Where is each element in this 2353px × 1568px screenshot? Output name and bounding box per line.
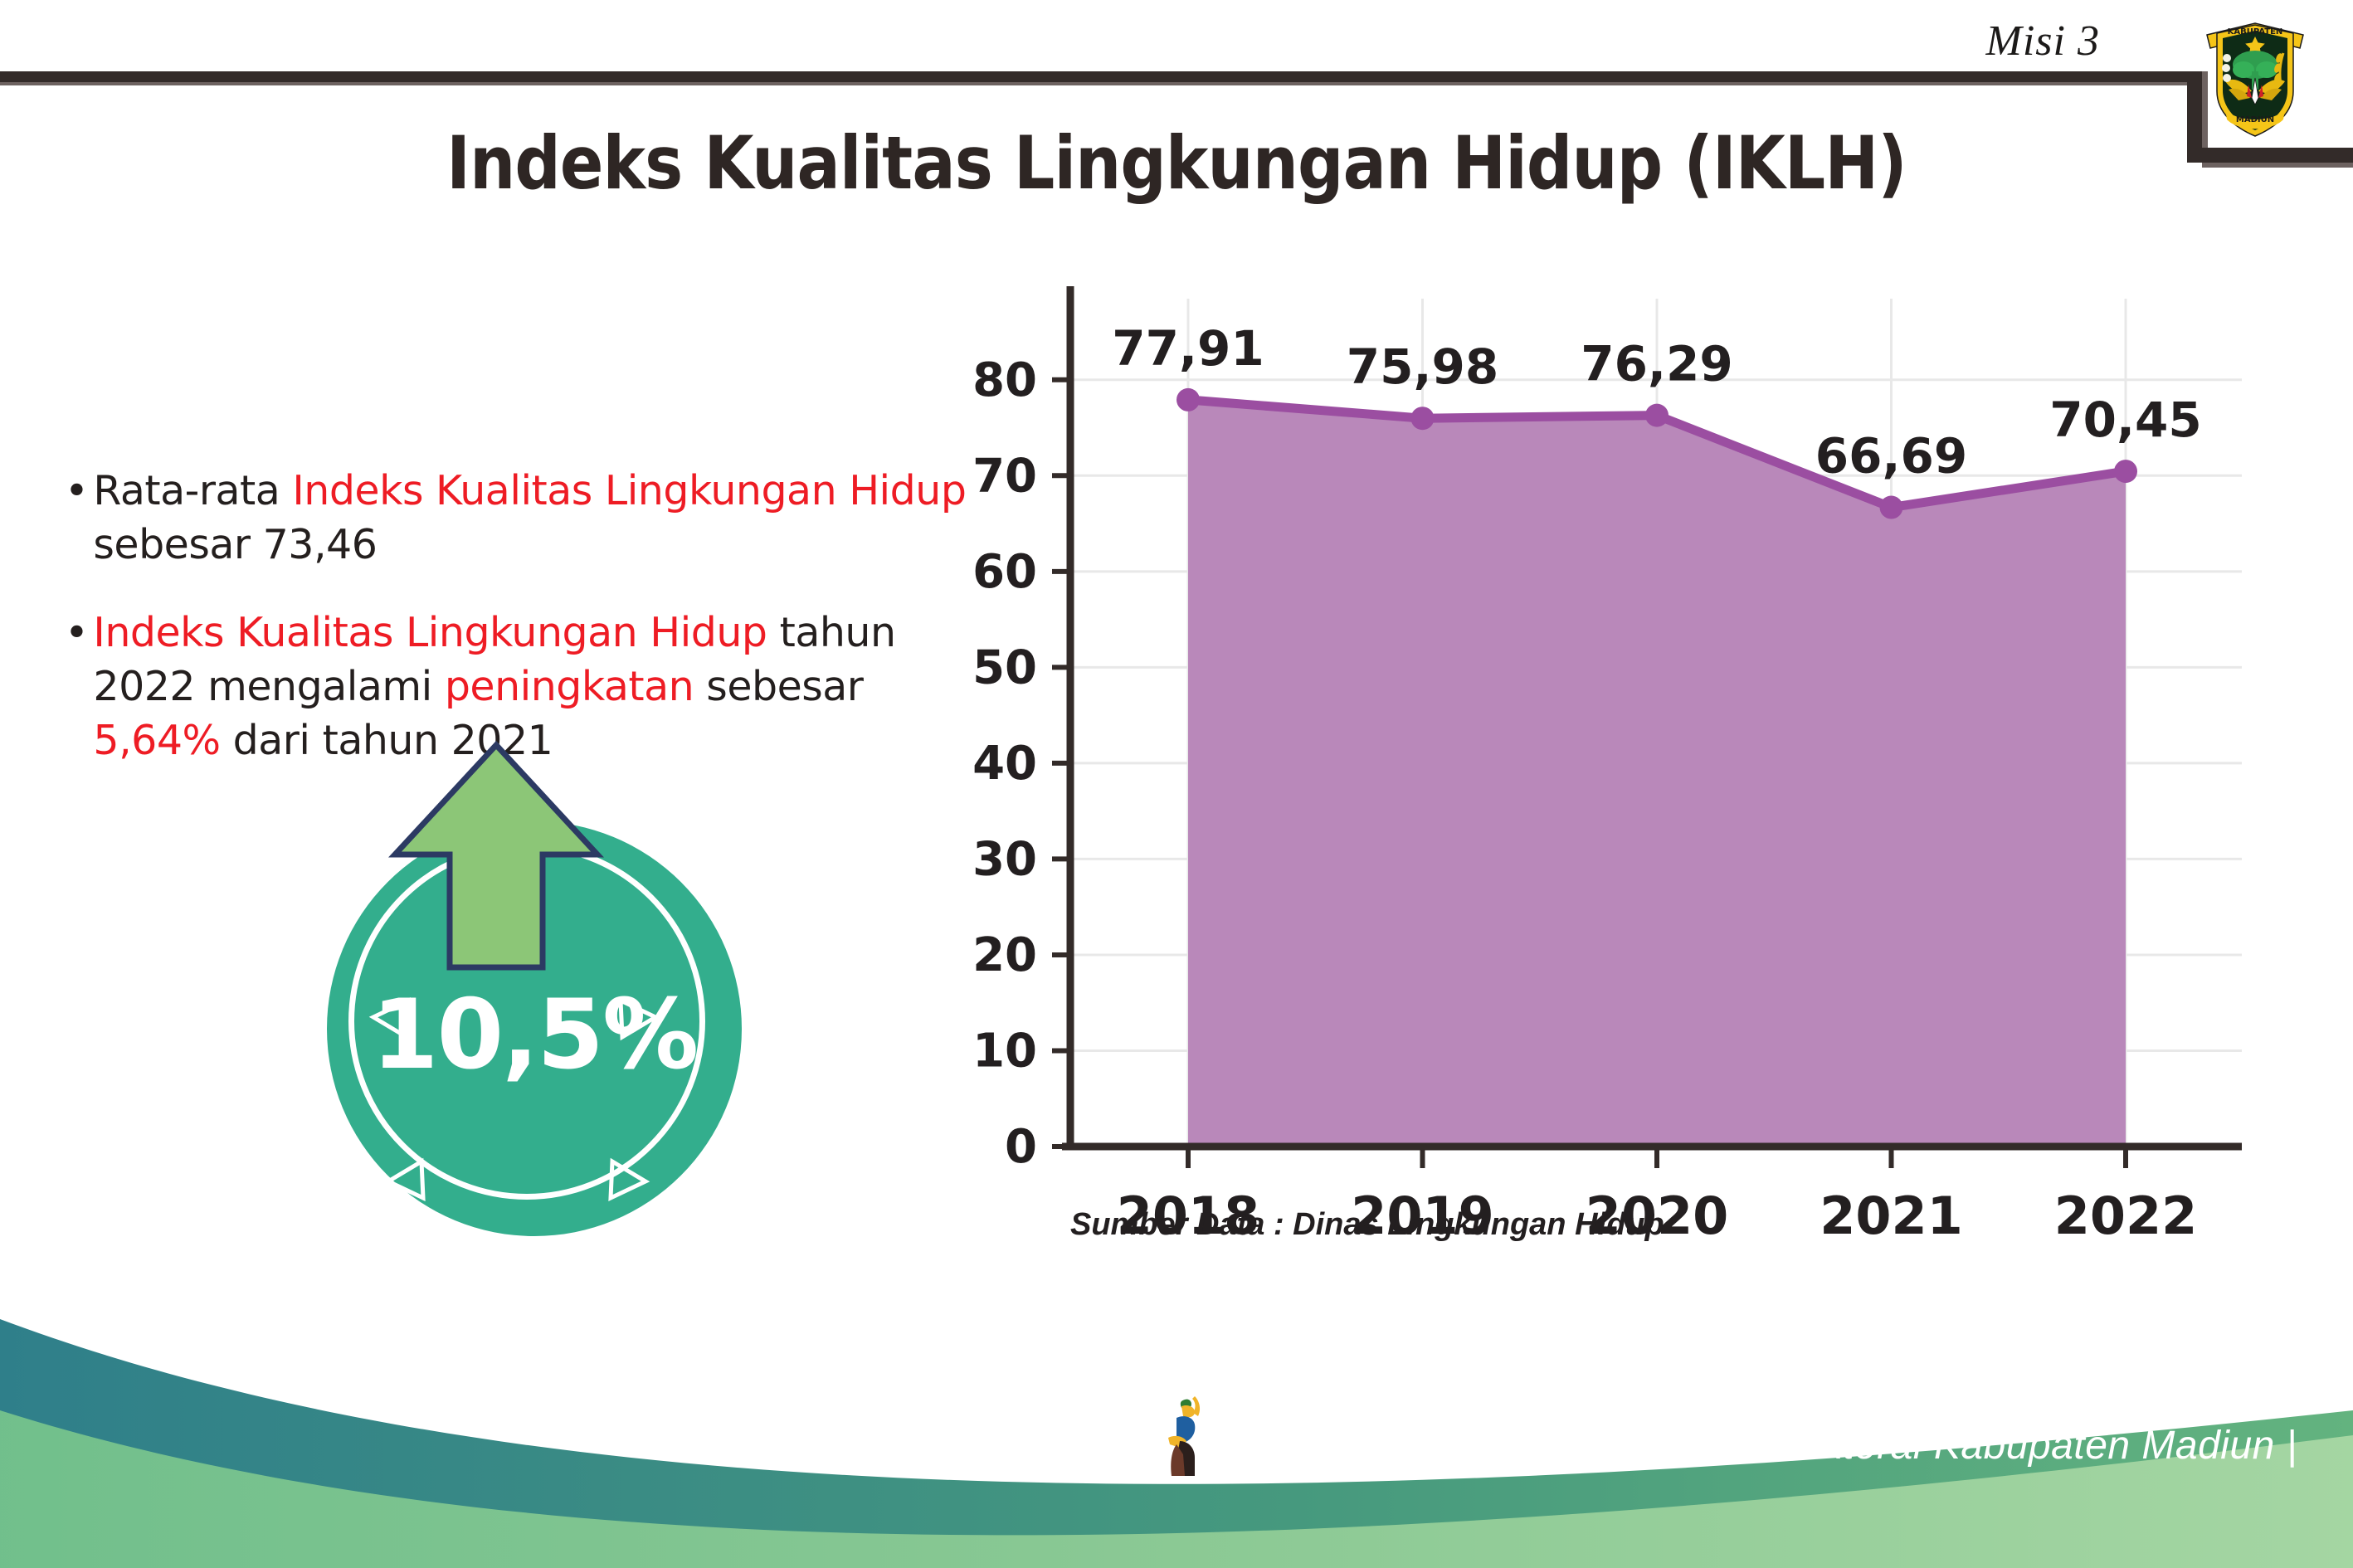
footer: Media Infografis Data Statistik Sektoral…	[0, 1311, 2353, 1568]
data-label: 77,91	[1112, 320, 1264, 377]
y-tick-label: 70	[972, 449, 1037, 503]
data-label: 76,29	[1581, 336, 1732, 392]
emblem-bottom-text: MADIUN	[2236, 115, 2274, 124]
chart-y-tick-labels: 01020304050607080	[972, 353, 1037, 1174]
data-label: 70,45	[2049, 392, 2201, 448]
bracket-horizontal-shadow	[2202, 163, 2353, 168]
y-tick-label: 30	[972, 832, 1037, 886]
bracket-horizontal	[2187, 148, 2353, 163]
bullet-segment-highlight: Indeks Kualitas Lingkungan Hidup	[292, 467, 966, 514]
page-title: Indeks Kualitas Lingkungan Hidup (IKLH)	[141, 120, 2212, 206]
iklh-area-chart: 01020304050607080 20182019202020212022 7…	[954, 282, 2282, 1278]
y-tick-label: 40	[972, 737, 1037, 791]
badge-tick-bottom-right-icon	[601, 1153, 650, 1203]
bullet-segment: sebesar	[694, 663, 863, 710]
emblem-top-text: KABUPATEN	[2228, 27, 2283, 37]
y-tick-label: 60	[972, 545, 1037, 599]
badge-tick-bottom-left-icon	[383, 1153, 433, 1203]
up-arrow-icon	[388, 738, 604, 971]
y-tick-label: 50	[972, 640, 1037, 694]
x-tick-label: 2021	[1820, 1186, 1963, 1246]
bullet-segment-highlight: 5,64%	[93, 717, 220, 764]
bullet-segment-highlight: Indeks Kualitas Lingkungan Hidup	[93, 609, 767, 656]
header-divider	[0, 71, 2187, 82]
footer-text: Media Infografis Data Statistik Sektoral…	[1220, 1423, 2297, 1468]
y-tick-label: 20	[972, 928, 1037, 982]
chart-area-fill	[1188, 400, 2126, 1147]
y-tick-label: 80	[972, 353, 1037, 407]
chart-source-caption: Sumber Data : Dinas Lingkungan Hidup	[1070, 1207, 1664, 1243]
bullet-segment: sebesar 73,46	[93, 521, 377, 568]
y-tick-label: 10	[972, 1024, 1037, 1078]
y-tick-label: 0	[1005, 1120, 1037, 1174]
bullet-segment: Rata-rata	[93, 467, 292, 514]
badge-value: 10,5%	[327, 979, 742, 1091]
bullet-marker: •	[65, 606, 88, 660]
bps-dancer-logo-icon	[1152, 1390, 1218, 1481]
bullet-text-1: Rata-rata Indeks Kualitas Lingkungan Hid…	[93, 465, 986, 572]
data-label: 75,98	[1347, 338, 1498, 395]
bullet-marker: •	[65, 465, 88, 519]
bullet-segment-highlight: peningkatan	[445, 663, 694, 710]
increase-badge: 10,5%	[319, 738, 750, 1236]
kabupaten-madiun-emblem-icon: KABUPATEN MADIUN	[2200, 12, 2310, 144]
list-item: • Rata-rata Indeks Kualitas Lingkungan H…	[65, 465, 986, 572]
misi-label: Misi 3	[1986, 17, 2100, 66]
data-label: 66,69	[1815, 428, 1967, 485]
x-tick-label: 2022	[2054, 1186, 2198, 1246]
